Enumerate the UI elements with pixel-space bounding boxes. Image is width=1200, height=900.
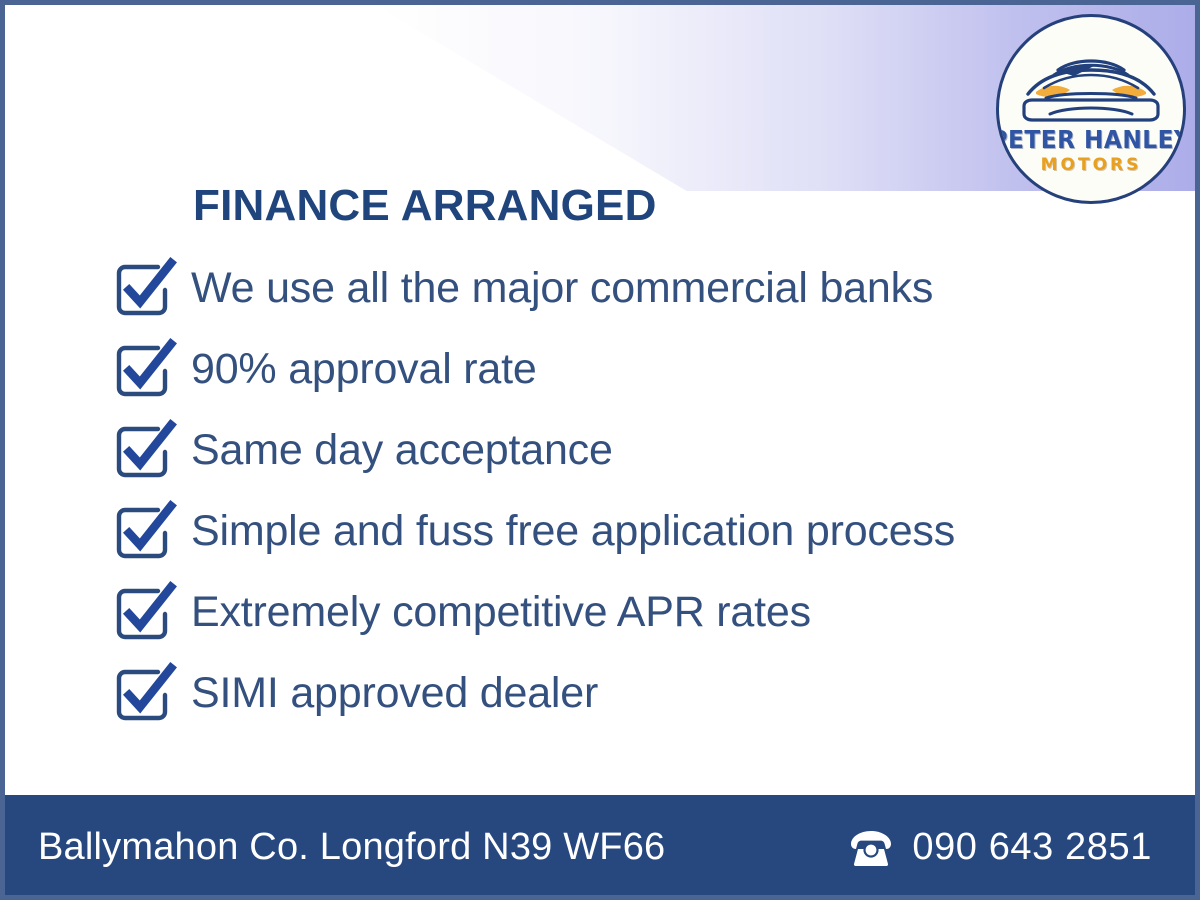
car-front-icon [1016,48,1166,126]
list-item: SIMI approved dealer [109,653,1119,734]
checked-checkbox-icon [109,257,179,321]
dealer-address: Ballymahon Co. Longford N39 WF66 [38,826,665,869]
checked-checkbox-icon [109,581,179,645]
list-item-label: We use all the major commercial banks [191,267,933,310]
list-item-label: SIMI approved dealer [191,672,598,715]
page-title: FINANCE ARRANGED [193,181,657,231]
logo-subbrand-text: MOTORS [1041,157,1142,174]
phone-number: 090 643 2851 [912,826,1152,869]
dealer-logo-badge[interactable]: PETER HANLEY MOTORS [996,14,1186,204]
checked-checkbox-icon [109,338,179,402]
list-item-label: 90% approval rate [191,348,537,391]
checked-checkbox-icon [109,500,179,564]
checked-checkbox-icon [109,662,179,726]
list-item: Same day acceptance [109,410,1119,491]
list-item-label: Extremely competitive APR rates [191,591,811,634]
finance-advert-card: PETER HANLEY MOTORS FINANCE ARRANGED We … [0,0,1200,900]
features-list: We use all the major commercial banks 90… [109,248,1119,734]
list-item: Extremely competitive APR rates [109,572,1119,653]
phone-contact[interactable]: 090 643 2851 [848,826,1162,869]
list-item-label: Simple and fuss free application process [191,510,955,553]
checked-checkbox-icon [109,419,179,483]
list-item: Simple and fuss free application process [109,491,1119,572]
list-item: 90% approval rate [109,329,1119,410]
list-item: We use all the major commercial banks [109,248,1119,329]
contact-footer-bar: Ballymahon Co. Longford N39 WF66 090 643… [0,795,1200,900]
list-item-label: Same day acceptance [191,429,613,472]
telephone-icon [848,829,894,867]
logo-brand-text: PETER HANLEY [996,127,1186,152]
